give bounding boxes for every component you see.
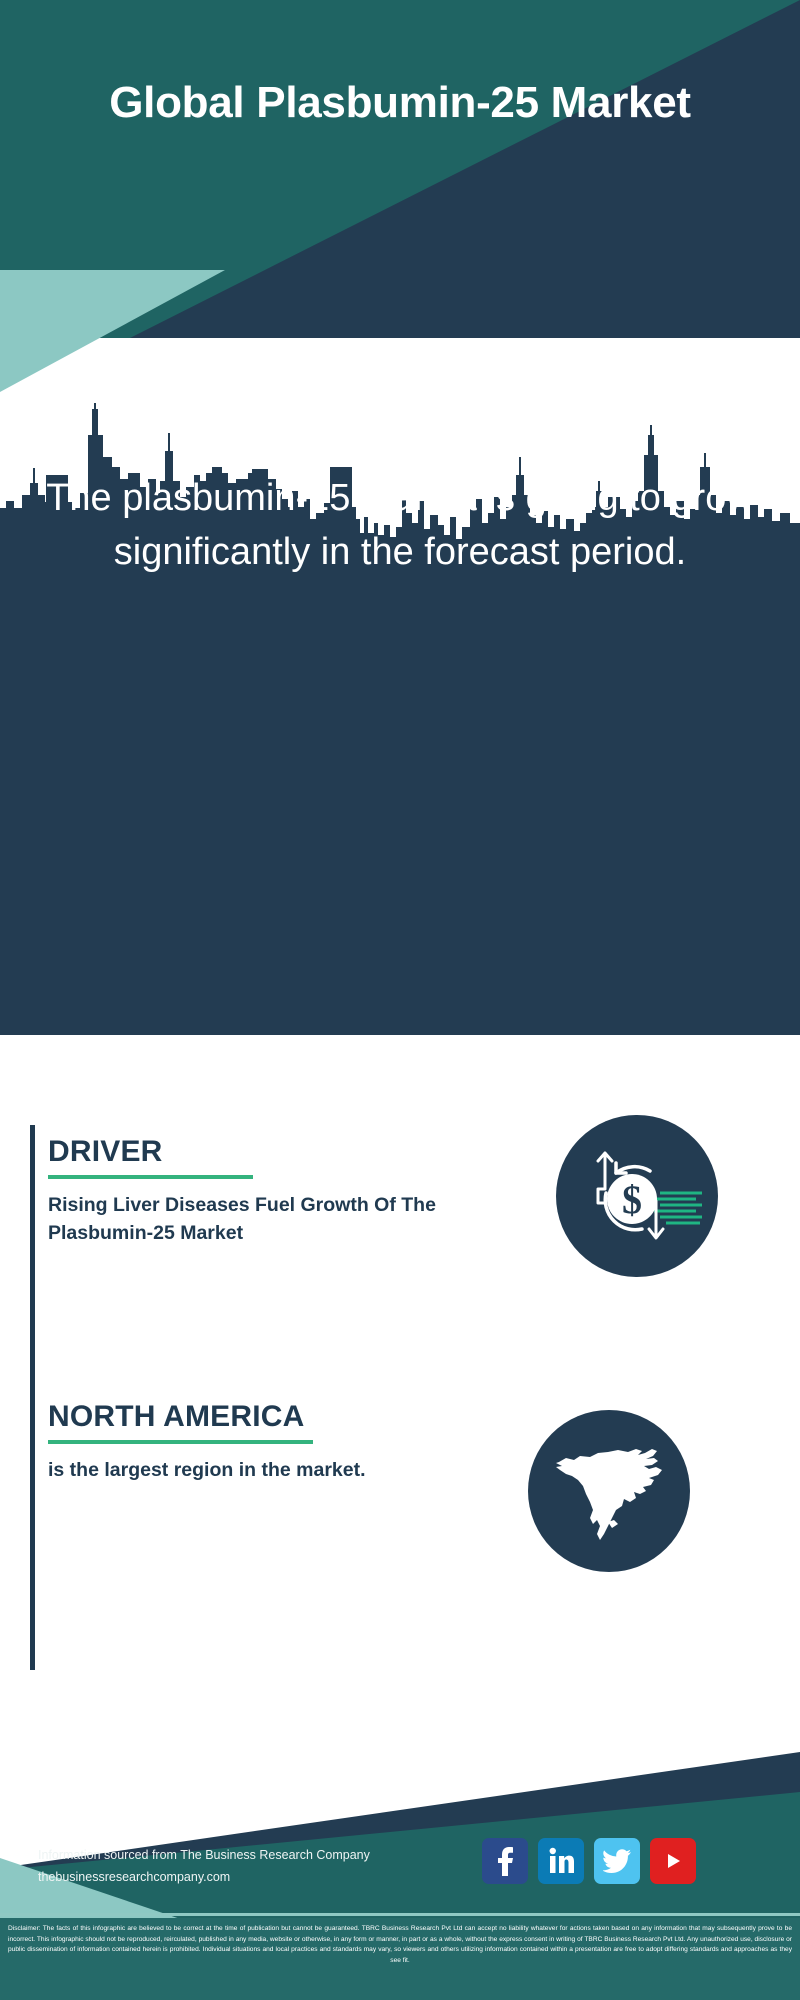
region-section: NORTH AMERICA is the largest region in t… xyxy=(0,1400,800,1680)
linkedin-icon[interactable]: ™ xyxy=(538,1838,584,1884)
youtube-play-glyph xyxy=(660,1850,686,1872)
twitter-bird-glyph xyxy=(603,1849,631,1873)
infographic-page: Global Plasbumin-25 Market The plasbumin… xyxy=(0,0,800,2000)
driver-body: Rising Liver Diseases Fuel Growth Of The… xyxy=(48,1191,438,1248)
region-heading: NORTH AMERICA xyxy=(48,1400,438,1433)
region-accent-bar xyxy=(30,1380,35,1670)
twitter-icon[interactable] xyxy=(594,1838,640,1884)
hero-quote: The plasbumin-25 market is going to grow… xyxy=(0,472,800,580)
youtube-icon[interactable] xyxy=(650,1838,696,1884)
left-teal-wedge xyxy=(0,270,240,395)
driver-section: DRIVER Rising Liver Diseases Fuel Growth… xyxy=(0,1135,800,1415)
north-america-map-icon xyxy=(528,1410,690,1572)
region-underline xyxy=(48,1440,313,1444)
region-body: is the largest region in the market. xyxy=(48,1456,438,1484)
svg-text:™: ™ xyxy=(572,1870,574,1875)
linkedin-glyph: ™ xyxy=(548,1847,574,1875)
footer-credit-line-1: Information sourced from The Business Re… xyxy=(38,1845,370,1867)
disclaimer-divider xyxy=(0,1913,800,1916)
facebook-glyph xyxy=(493,1846,517,1876)
city-skyline-silhouette xyxy=(0,395,800,820)
dollar-growth-arrows-glyph: $ xyxy=(572,1131,702,1261)
page-title: Global Plasbumin-25 Market xyxy=(0,78,800,129)
hero-skyline-block xyxy=(0,395,800,820)
dollar-growth-arrows-icon: $ xyxy=(556,1115,718,1277)
region-text-block: NORTH AMERICA is the largest region in t… xyxy=(48,1400,438,1484)
social-links: ™ xyxy=(482,1838,696,1884)
driver-heading: DRIVER xyxy=(48,1135,438,1168)
facebook-icon[interactable] xyxy=(482,1838,528,1884)
svg-text:$: $ xyxy=(622,1177,642,1222)
driver-text-block: DRIVER Rising Liver Diseases Fuel Growth… xyxy=(48,1135,438,1248)
footer-credit-line-2[interactable]: thebusinessresearchcompany.com xyxy=(38,1867,370,1889)
driver-underline xyxy=(48,1175,253,1179)
north-america-map-glyph xyxy=(550,1436,668,1546)
driver-accent-bar xyxy=(30,1125,35,1390)
footer-credit: Information sourced from The Business Re… xyxy=(38,1845,370,1889)
disclaimer-bar: Disclaimer: The facts of this infographi… xyxy=(0,1918,800,2000)
disclaimer-text: Disclaimer: The facts of this infographi… xyxy=(8,1924,792,1967)
